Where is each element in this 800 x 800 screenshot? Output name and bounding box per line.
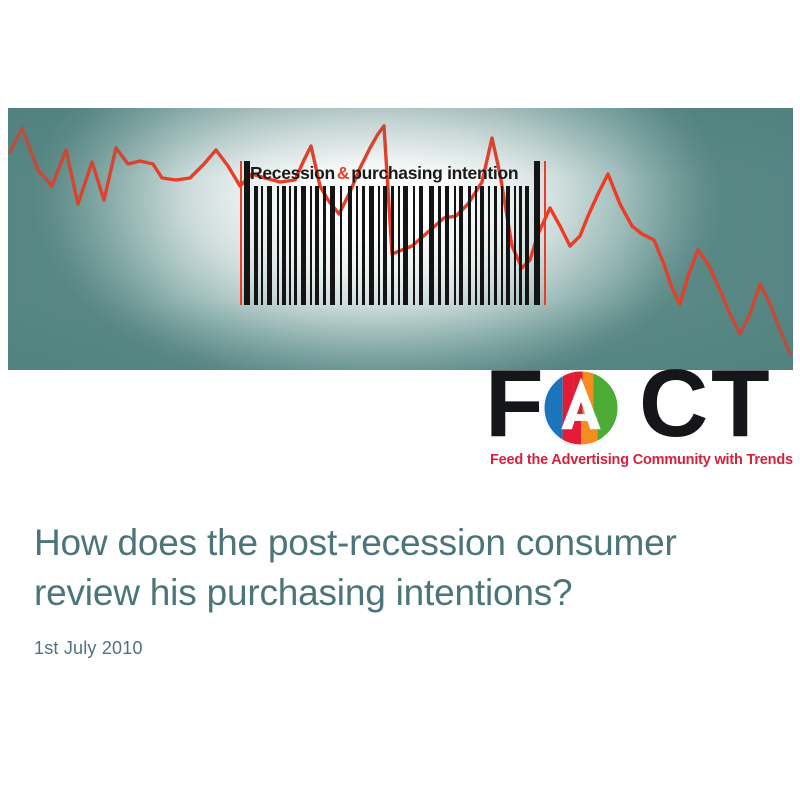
title-block: How does the post-recession consumer rev… bbox=[34, 518, 754, 659]
barcode-label-suffix: purchasing intention bbox=[351, 163, 518, 184]
logo-tagline: Feed the Advertising Community with Tren… bbox=[490, 452, 793, 468]
barcode-label-ampersand: & bbox=[335, 163, 351, 184]
fact-logo: F C T bbox=[487, 368, 787, 480]
logo-letter-f: F bbox=[485, 363, 542, 445]
barcode-guard-right bbox=[544, 161, 546, 305]
barcode-label-prefix: Recession bbox=[250, 163, 335, 184]
page-title-line-2: review his purchasing intentions? bbox=[34, 568, 754, 618]
logo-letter-c: C bbox=[639, 363, 706, 445]
logo-letter-t: T bbox=[711, 363, 768, 445]
page-title: How does the post-recession consumer rev… bbox=[34, 518, 754, 618]
barcode-guard-left bbox=[240, 161, 242, 305]
fact-wordmark: F C T bbox=[487, 368, 787, 450]
slide-date: 1st July 2010 bbox=[34, 638, 754, 659]
page-title-line-1: How does the post-recession consumer bbox=[34, 522, 677, 563]
title-slide: Recession & purchasing intention F C T bbox=[0, 0, 800, 800]
colorful-circle-a-icon bbox=[543, 370, 619, 446]
barcode-label: Recession & purchasing intention bbox=[250, 160, 518, 186]
barcode-graphic: Recession & purchasing intention bbox=[236, 160, 552, 305]
